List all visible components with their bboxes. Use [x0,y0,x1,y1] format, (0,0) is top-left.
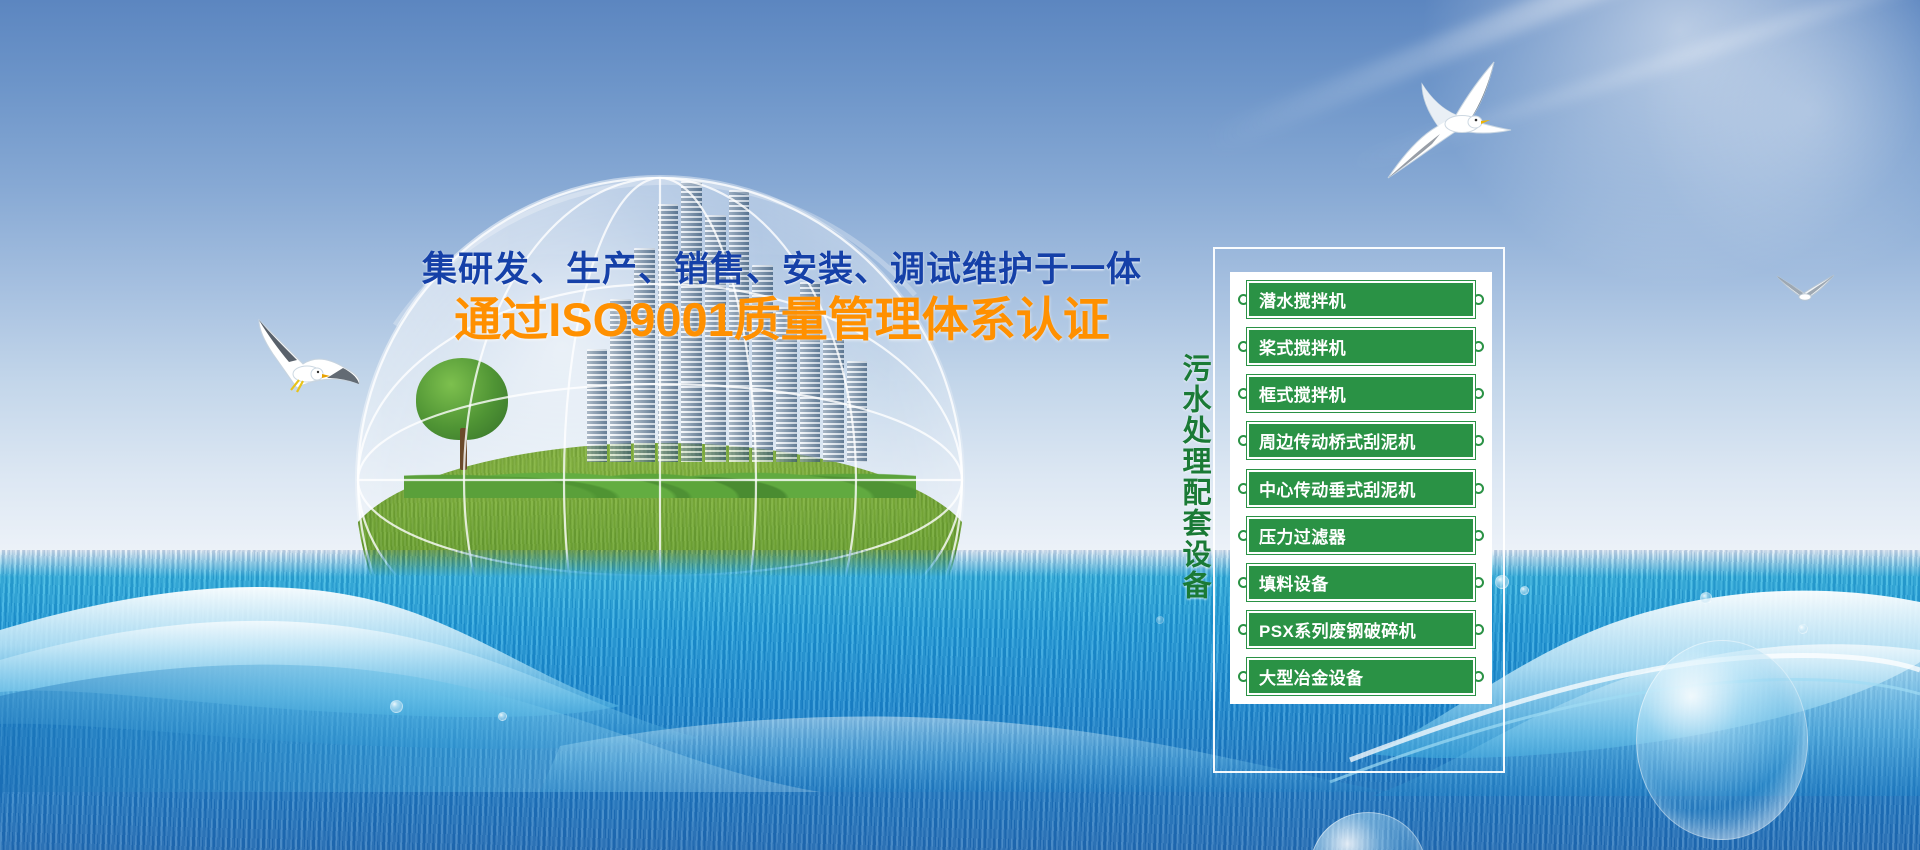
product-item-5[interactable]: 中心传动垂式刮泥机 [1246,469,1476,508]
product-item-label: 大型冶金设备 [1247,664,1363,689]
product-item-label: 填料设备 [1247,570,1329,595]
product-item-4[interactable]: 周边传动桥式刮泥机 [1246,421,1476,460]
promotional-banner: 集研发、生产、销售、安装、调试维护于一体 通过ISO9001质量管理体系认证 [0,0,1920,850]
product-item-8[interactable]: PSX系列废钢破碎机 [1246,610,1476,649]
headline-line-2: 通过ISO9001质量管理体系认证 [372,292,1192,347]
headline-block: 集研发、生产、销售、安装、调试维护于一体 通过ISO9001质量管理体系认证 [372,250,1192,348]
product-row: 周边传动桥式刮泥机 [1239,421,1483,460]
product-item-1[interactable]: 潜水搅拌机 [1246,280,1476,319]
water-bubble-small-6 [498,712,507,721]
product-row: PSX系列废钢破碎机 [1239,610,1483,649]
water-bubble-small-5 [390,700,403,713]
product-item-2[interactable]: 桨式搅拌机 [1246,327,1476,366]
product-item-label: 压力过滤器 [1247,523,1346,548]
panel-vertical-label: 污水处理配套设备 [1167,353,1209,601]
light-streak-1 [1208,0,1920,154]
product-row: 潜水搅拌机 [1239,280,1483,319]
water-bubble-small-4 [1798,624,1808,634]
product-item-9[interactable]: 大型冶金设备 [1246,657,1476,696]
product-item-label: 框式搅拌机 [1247,381,1346,406]
product-row: 中心传动垂式刮泥机 [1239,469,1483,508]
seagull-left-icon [253,310,361,396]
product-item-label: 周边传动桥式刮泥机 [1247,428,1416,453]
product-item-label: 中心传动垂式刮泥机 [1247,476,1416,501]
product-item-7[interactable]: 填料设备 [1246,563,1476,602]
product-item-label: 潜水搅拌机 [1247,287,1346,312]
sky-glow-right [1640,0,1920,280]
water-bubble-small-3 [1700,592,1712,604]
product-row: 压力过滤器 [1239,516,1483,555]
seagull-large-right-icon [1370,58,1515,183]
product-category-panel: 污水处理配套设备 潜水搅拌机 桨式搅拌机 框式搅拌机 [1213,247,1505,773]
product-item-label: 桨式搅拌机 [1247,334,1346,359]
product-row: 大型冶金设备 [1239,657,1483,696]
water-bubble-large [1636,640,1808,840]
product-item-label: PSX系列废钢破碎机 [1247,617,1416,642]
product-row: 桨式搅拌机 [1239,327,1483,366]
product-item-6[interactable]: 压力过滤器 [1246,516,1476,555]
product-item-3[interactable]: 框式搅拌机 [1246,374,1476,413]
product-row: 填料设备 [1239,563,1483,602]
water-texture [0,550,1920,850]
headline-line-1: 集研发、生产、销售、安装、调试维护于一体 [372,250,1192,290]
water-bubble-small-7 [1156,616,1164,624]
product-row: 框式搅拌机 [1239,374,1483,413]
water-bubble-small-2 [1520,586,1529,595]
seagull-small-right-icon [1775,272,1837,308]
product-list: 潜水搅拌机 桨式搅拌机 框式搅拌机 [1230,272,1492,704]
